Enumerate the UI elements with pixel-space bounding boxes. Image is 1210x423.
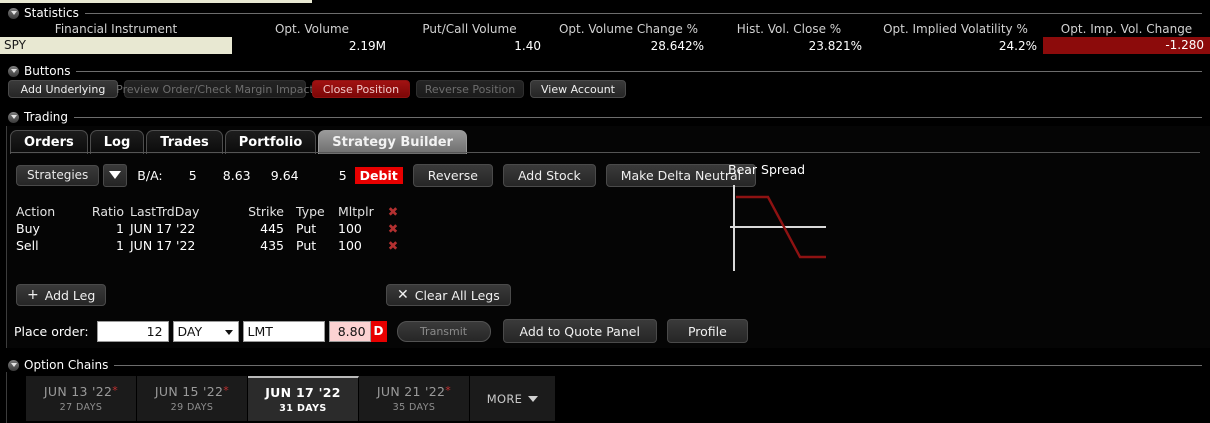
leg-action: Sell bbox=[16, 238, 76, 253]
buttons-section-header[interactable]: Buttons bbox=[8, 64, 1202, 78]
close-position-button[interactable]: Close Position bbox=[312, 80, 410, 98]
add-stock-button[interactable]: Add Stock bbox=[503, 164, 596, 187]
quantity-input[interactable]: 12 bbox=[97, 321, 169, 342]
cell-opt-volume: 2.19M bbox=[232, 39, 392, 53]
section-divider bbox=[76, 71, 1202, 72]
col-header-opt-implied-volatility: Opt. Implied Volatility % bbox=[868, 22, 1043, 36]
strategies-dropdown-arrow-icon[interactable] bbox=[103, 164, 127, 187]
leg-mltplr: 100 bbox=[338, 221, 382, 236]
payoff-chart-svg bbox=[728, 181, 908, 273]
section-divider bbox=[114, 365, 1202, 366]
tab-portfolio[interactable]: Portfolio bbox=[225, 130, 317, 154]
cell-opt-volume-change: 28.642% bbox=[547, 39, 710, 53]
leg-strike: 435 bbox=[226, 238, 290, 253]
cell-opt-imp-vol-change: -1.280 bbox=[1043, 37, 1210, 54]
legs-col-strike: Strike bbox=[226, 204, 290, 219]
collapse-triangle-icon[interactable] bbox=[8, 360, 19, 371]
cutoff-field-strip bbox=[0, 0, 312, 3]
expiration-date: JUN 15 '22* bbox=[155, 384, 229, 399]
legs-col-lasttrdday: LastTrdDay bbox=[130, 204, 226, 219]
legs-col-type: Type bbox=[290, 204, 338, 219]
bid-value: 8.63 bbox=[209, 168, 251, 183]
chevron-down-icon bbox=[225, 330, 233, 335]
legs-col-ratio: Ratio bbox=[76, 204, 130, 219]
legs-col-action: Action bbox=[16, 204, 76, 219]
col-header-put-call-volume: Put/Call Volume bbox=[392, 22, 547, 36]
price-flag-badge: D bbox=[371, 321, 387, 342]
more-expirations-button[interactable]: MORE bbox=[470, 376, 556, 421]
payoff-diagram: Bear Spread bbox=[728, 162, 968, 272]
buttons-section-title: Buttons bbox=[24, 64, 70, 78]
leg-strike: 445 bbox=[226, 221, 290, 236]
expiration-days: 31 DAYS bbox=[279, 403, 326, 414]
expiration-chip-jun-13[interactable]: JUN 13 '22* 27 DAYS bbox=[26, 376, 137, 421]
leg-type: Put bbox=[290, 238, 338, 253]
col-header-opt-volume-change: Opt. Volume Change % bbox=[547, 22, 710, 36]
debit-badge: Debit bbox=[355, 167, 403, 184]
legs-header-row: Action Ratio LastTrdDay Strike Type Mltp… bbox=[16, 203, 416, 220]
expiration-days: 35 DAYS bbox=[393, 402, 436, 413]
cell-financial-instrument-wrap: SPY bbox=[0, 37, 232, 54]
strategy-toolbar: Strategies B/A: 5 8.63 9.64 5 Debit Reve… bbox=[16, 163, 756, 187]
leg-lasttrdday: JUN 17 '22 bbox=[130, 221, 226, 236]
strategy-legs-table: Action Ratio LastTrdDay Strike Type Mltp… bbox=[16, 203, 416, 254]
preview-order-button[interactable]: Preview Order/Check Margin Impact bbox=[124, 80, 306, 98]
limit-price-input[interactable]: 8.80 bbox=[329, 321, 371, 342]
add-to-quote-panel-button[interactable]: Add to Quote Panel bbox=[503, 319, 657, 343]
cell-opt-imp-vol-change-wrap: -1.280 bbox=[1043, 37, 1210, 54]
collapse-triangle-icon[interactable] bbox=[8, 8, 19, 19]
expiration-chip-row: JUN 13 '22* 27 DAYS JUN 15 '22* 29 DAYS … bbox=[26, 376, 556, 421]
statistics-table: Financial Instrument Opt. Volume Put/Cal… bbox=[0, 20, 1210, 55]
option-chains-section-header[interactable]: Option Chains bbox=[8, 358, 1202, 372]
table-row[interactable]: Sell 1 JUN 17 '22 435 Put 100 ✖ bbox=[16, 237, 416, 254]
expiration-chip-jun-15[interactable]: JUN 15 '22* 29 DAYS bbox=[137, 376, 248, 421]
order-type-input[interactable]: LMT bbox=[243, 321, 325, 342]
leg-action: Buy bbox=[16, 221, 76, 236]
statistics-section-title: Statistics bbox=[24, 6, 79, 20]
cell-hist-vol-close: 23.821% bbox=[710, 39, 868, 53]
payoff-title: Bear Spread bbox=[728, 162, 968, 177]
ask-value: 9.64 bbox=[257, 168, 299, 183]
strategies-button[interactable]: Strategies bbox=[16, 165, 99, 186]
col-header-opt-imp-vol-change: Opt. Imp. Vol. Change bbox=[1043, 22, 1210, 36]
table-row[interactable]: Buy 1 JUN 17 '22 445 Put 100 ✖ bbox=[16, 220, 416, 237]
expiration-days: 27 DAYS bbox=[60, 402, 103, 413]
section-divider bbox=[85, 13, 1202, 14]
add-leg-label: Add Leg bbox=[45, 288, 96, 303]
cell-opt-implied-volatility: 24.2% bbox=[868, 39, 1043, 53]
cell-financial-instrument[interactable]: SPY bbox=[0, 37, 232, 54]
tab-strategy-builder[interactable]: Strategy Builder bbox=[318, 130, 467, 154]
clear-all-legs-button[interactable]: ✕ Clear All Legs bbox=[386, 284, 511, 306]
expiration-days: 29 DAYS bbox=[171, 402, 214, 413]
remove-leg-icon[interactable]: ✖ bbox=[382, 221, 404, 236]
trading-section-header[interactable]: Trading bbox=[8, 110, 1202, 124]
bid-size-value: 5 bbox=[171, 168, 197, 183]
view-account-button[interactable]: View Account bbox=[530, 80, 626, 98]
collapse-triangle-icon[interactable] bbox=[8, 66, 19, 77]
expiration-date: JUN 21 '22* bbox=[377, 384, 451, 399]
time-in-force-select[interactable]: DAY bbox=[173, 321, 239, 342]
remove-leg-icon[interactable]: ✖ bbox=[382, 238, 404, 253]
statistics-section-header[interactable]: Statistics bbox=[8, 6, 1202, 20]
ask-size-value: 5 bbox=[319, 168, 347, 183]
expiration-date: JUN 13 '22* bbox=[44, 384, 118, 399]
leg-ratio: 1 bbox=[76, 238, 130, 253]
leg-mltplr: 100 bbox=[338, 238, 382, 253]
more-label: MORE bbox=[487, 392, 538, 406]
time-in-force-value: DAY bbox=[178, 324, 203, 339]
statistics-header-row: Financial Instrument Opt. Volume Put/Cal… bbox=[0, 20, 1210, 36]
leg-ratio: 1 bbox=[76, 221, 130, 236]
remove-all-legs-icon[interactable]: ✖ bbox=[382, 204, 404, 219]
collapse-triangle-icon[interactable] bbox=[8, 112, 19, 123]
leg-type: Put bbox=[290, 221, 338, 236]
col-header-opt-volume: Opt. Volume bbox=[232, 22, 392, 36]
trading-tab-bar: Orders Log Trades Portfolio Strategy Bui… bbox=[10, 128, 469, 154]
add-leg-button[interactable]: + Add Leg bbox=[16, 284, 106, 306]
bid-ask-label: B/A: bbox=[137, 168, 162, 183]
trading-section-title: Trading bbox=[24, 110, 68, 124]
expiration-chip-jun-21[interactable]: JUN 21 '22* 35 DAYS bbox=[359, 376, 470, 421]
reverse-button[interactable]: Reverse bbox=[413, 164, 493, 187]
close-x-icon: ✕ bbox=[397, 287, 409, 303]
add-underlying-button[interactable]: Add Underlying bbox=[8, 80, 118, 98]
expiration-date: JUN 17 '22 bbox=[265, 385, 341, 400]
tab-orders[interactable]: Orders bbox=[10, 130, 88, 154]
cell-put-call-volume: 1.40 bbox=[392, 39, 547, 53]
clear-all-legs-label: Clear All Legs bbox=[415, 288, 500, 303]
place-order-label: Place order: bbox=[14, 324, 89, 339]
tab-log[interactable]: Log bbox=[90, 130, 145, 154]
tab-trades[interactable]: Trades bbox=[146, 130, 222, 154]
col-header-hist-vol-close: Hist. Vol. Close % bbox=[710, 22, 868, 36]
plus-icon: + bbox=[27, 287, 39, 303]
expiration-chip-jun-17[interactable]: JUN 17 '22 31 DAYS bbox=[248, 376, 359, 421]
reverse-position-button[interactable]: Reverse Position bbox=[416, 80, 524, 98]
col-header-financial-instrument: Financial Instrument bbox=[0, 22, 232, 36]
legs-col-mltplr: Mltplr bbox=[338, 204, 382, 219]
transmit-button[interactable]: Transmit bbox=[397, 321, 491, 342]
leg-lasttrdday: JUN 17 '22 bbox=[130, 238, 226, 253]
section-divider bbox=[74, 117, 1202, 118]
profile-button[interactable]: Profile bbox=[667, 319, 748, 343]
option-chains-section-title: Option Chains bbox=[24, 358, 108, 372]
statistics-value-row[interactable]: SPY 2.19M 1.40 28.642% 23.821% 24.2% -1.… bbox=[0, 36, 1210, 55]
action-buttons-row: Add Underlying Preview Order/Check Margi… bbox=[8, 80, 1208, 100]
place-order-row: Place order: 12 DAY LMT 8.80 D Transmit … bbox=[14, 319, 748, 343]
tab-underline bbox=[10, 152, 1200, 153]
